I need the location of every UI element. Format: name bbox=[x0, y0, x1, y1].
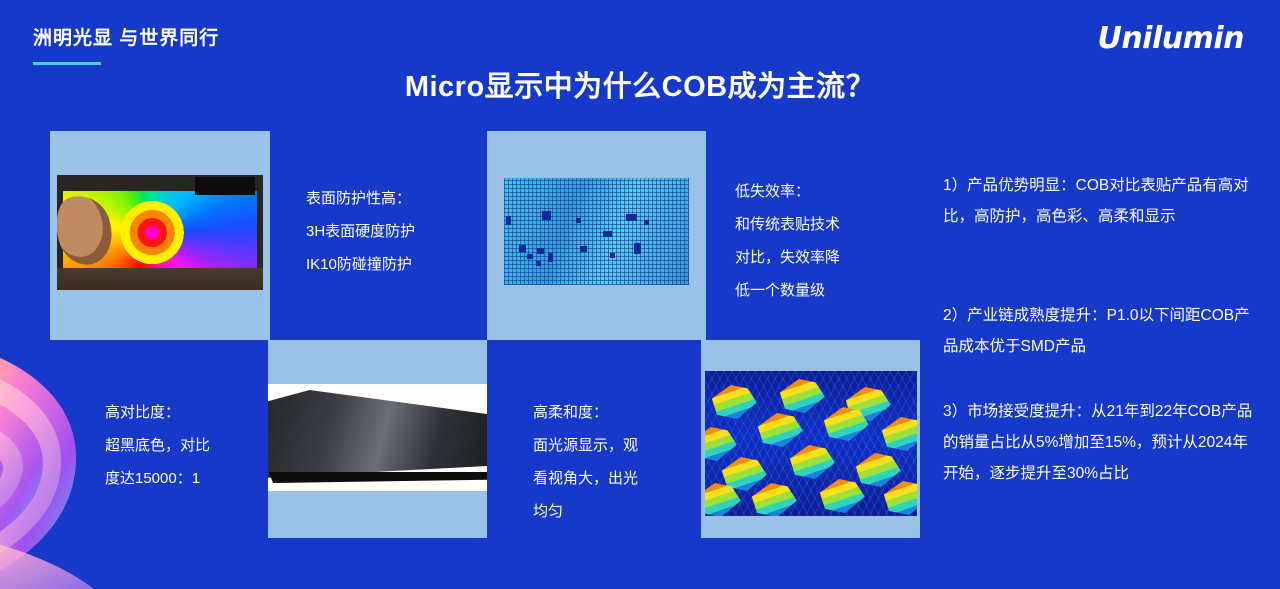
black-panel-surface bbox=[268, 390, 487, 478]
header-brand: 洲明光显 与世界同行 bbox=[33, 23, 219, 65]
dead-pixel-dot bbox=[626, 214, 637, 221]
dead-pixel-dot bbox=[548, 253, 553, 262]
dead-pixel-dot bbox=[576, 218, 581, 223]
feature-text-low-failure: 低失效率： 和传统表贴技术 对比，失效率降 低一个数量级 bbox=[735, 175, 905, 307]
black-panel-photo bbox=[268, 384, 487, 491]
dead-pixel-dot bbox=[537, 248, 544, 254]
dead-pixel-dot bbox=[527, 254, 533, 259]
bullet-supply-chain-maturity: 2）产业链成熟度提升：P1.0以下间距COB产品成本优于SMD产品 bbox=[943, 300, 1263, 362]
led-pixel-grid-photo bbox=[504, 178, 689, 285]
bullet-market-acceptance: 3）市场接受度提升：从21年到22年COB产品的销量占比从5%增加至15%，预计… bbox=[943, 396, 1263, 489]
feature-text-surface-protection: 表面防护性高： 3H表面硬度防护 IK10防碰撞防护 bbox=[306, 182, 496, 281]
feature-text-high-contrast: 高对比度： 超黑底色，对比 度达15000：1 bbox=[105, 396, 280, 495]
feature-text-high-softness: 高柔和度： 面光源显示，观 看视角大，出光 均匀 bbox=[533, 396, 698, 528]
led-rose-display-photo bbox=[57, 175, 263, 290]
dead-pixel-dot bbox=[506, 216, 511, 225]
luminance-surface-plot bbox=[705, 371, 917, 516]
photo-dark-corner bbox=[195, 177, 255, 195]
black-panel-edge bbox=[268, 472, 487, 483]
dead-pixel-dot bbox=[644, 220, 649, 225]
unilumin-logo: Unilumin bbox=[1097, 21, 1244, 56]
dead-pixel-dot bbox=[519, 245, 526, 252]
bullet-product-advantage: 1）产品优势明显：COB对比表贴产品有高对比，高防护，高色彩、高柔和显示 bbox=[943, 170, 1263, 232]
dead-pixel-dot bbox=[580, 246, 587, 252]
dead-pixel-dot bbox=[542, 211, 551, 220]
page-title: Micro显示中为什么COB成为主流？ bbox=[0, 63, 1280, 105]
brand-slogan: 洲明光显 与世界同行 bbox=[33, 23, 219, 50]
dead-pixel-dot bbox=[603, 231, 612, 237]
wooden-table-edge bbox=[57, 268, 263, 290]
dead-pixel-dot bbox=[610, 253, 615, 258]
dead-pixel-dot bbox=[536, 261, 541, 266]
dead-pixel-dot bbox=[634, 243, 641, 254]
